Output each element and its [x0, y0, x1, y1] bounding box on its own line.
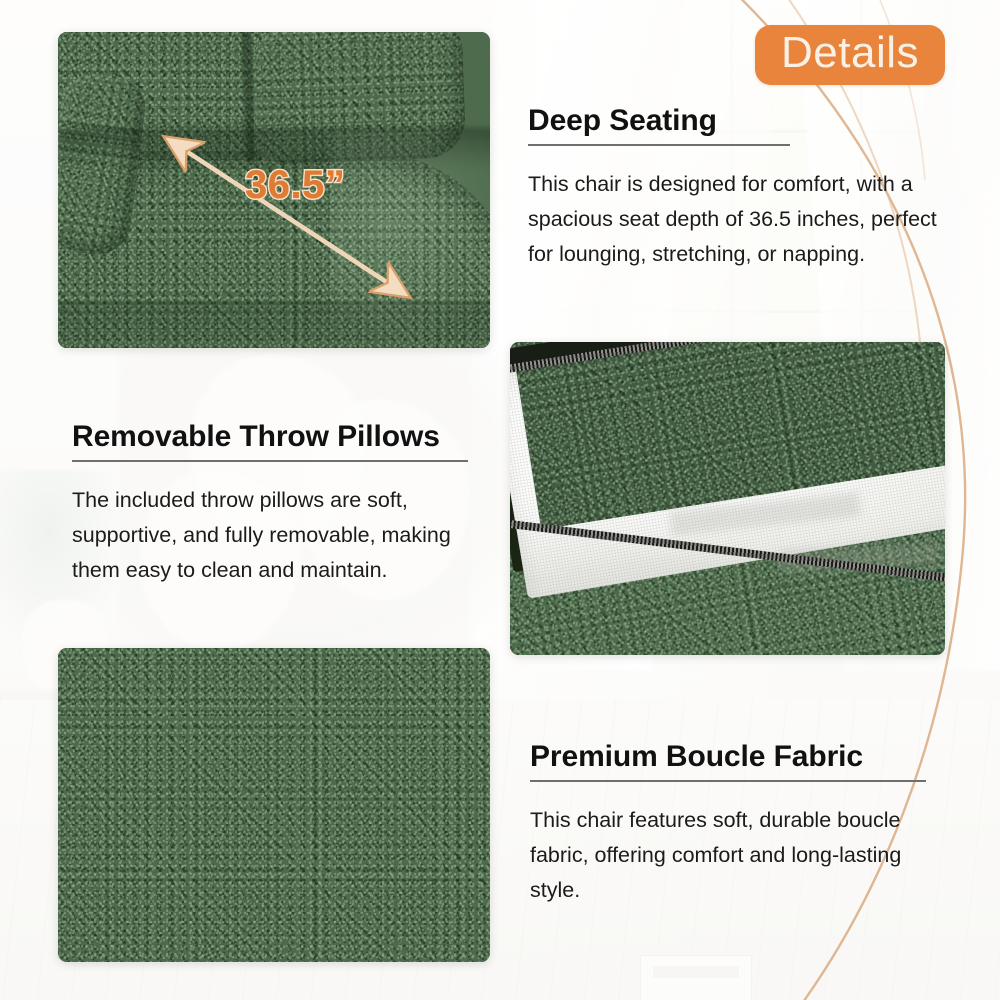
heading-deep-seating: Deep Seating [528, 104, 948, 138]
section-removable-throw-pillows: Removable Throw Pillows The included thr… [72, 420, 472, 587]
body-removable-throw-pillows: The included throw pillows are soft, sup… [72, 483, 452, 587]
heading-removable-throw-pillows: Removable Throw Pillows [72, 420, 472, 454]
product-detail-infographic: Details 36.5” 36.5” Deep Seating [0, 0, 1000, 1000]
photo-card-zipper-removable-cover [510, 342, 945, 655]
photo-card-fabric-swatch [58, 648, 490, 962]
heading-rule [72, 460, 468, 462]
boucle-fabric-closeup [58, 648, 490, 962]
body-deep-seating: This chair is designed for comfort, with… [528, 167, 948, 271]
details-badge: Details [755, 25, 945, 85]
dimension-label: 36.5” [245, 163, 345, 208]
sofa-highlight [330, 132, 490, 348]
heading-premium-boucle-fabric: Premium Boucle Fabric [530, 740, 930, 774]
heading-rule [528, 144, 790, 146]
body-premium-boucle-fabric: This chair features soft, durable boucle… [530, 803, 925, 907]
section-premium-boucle-fabric: Premium Boucle Fabric This chair feature… [530, 740, 930, 907]
section-deep-seating: Deep Seating This chair is designed for … [528, 104, 948, 271]
heading-rule [530, 780, 926, 782]
zipper-photo [510, 342, 945, 655]
